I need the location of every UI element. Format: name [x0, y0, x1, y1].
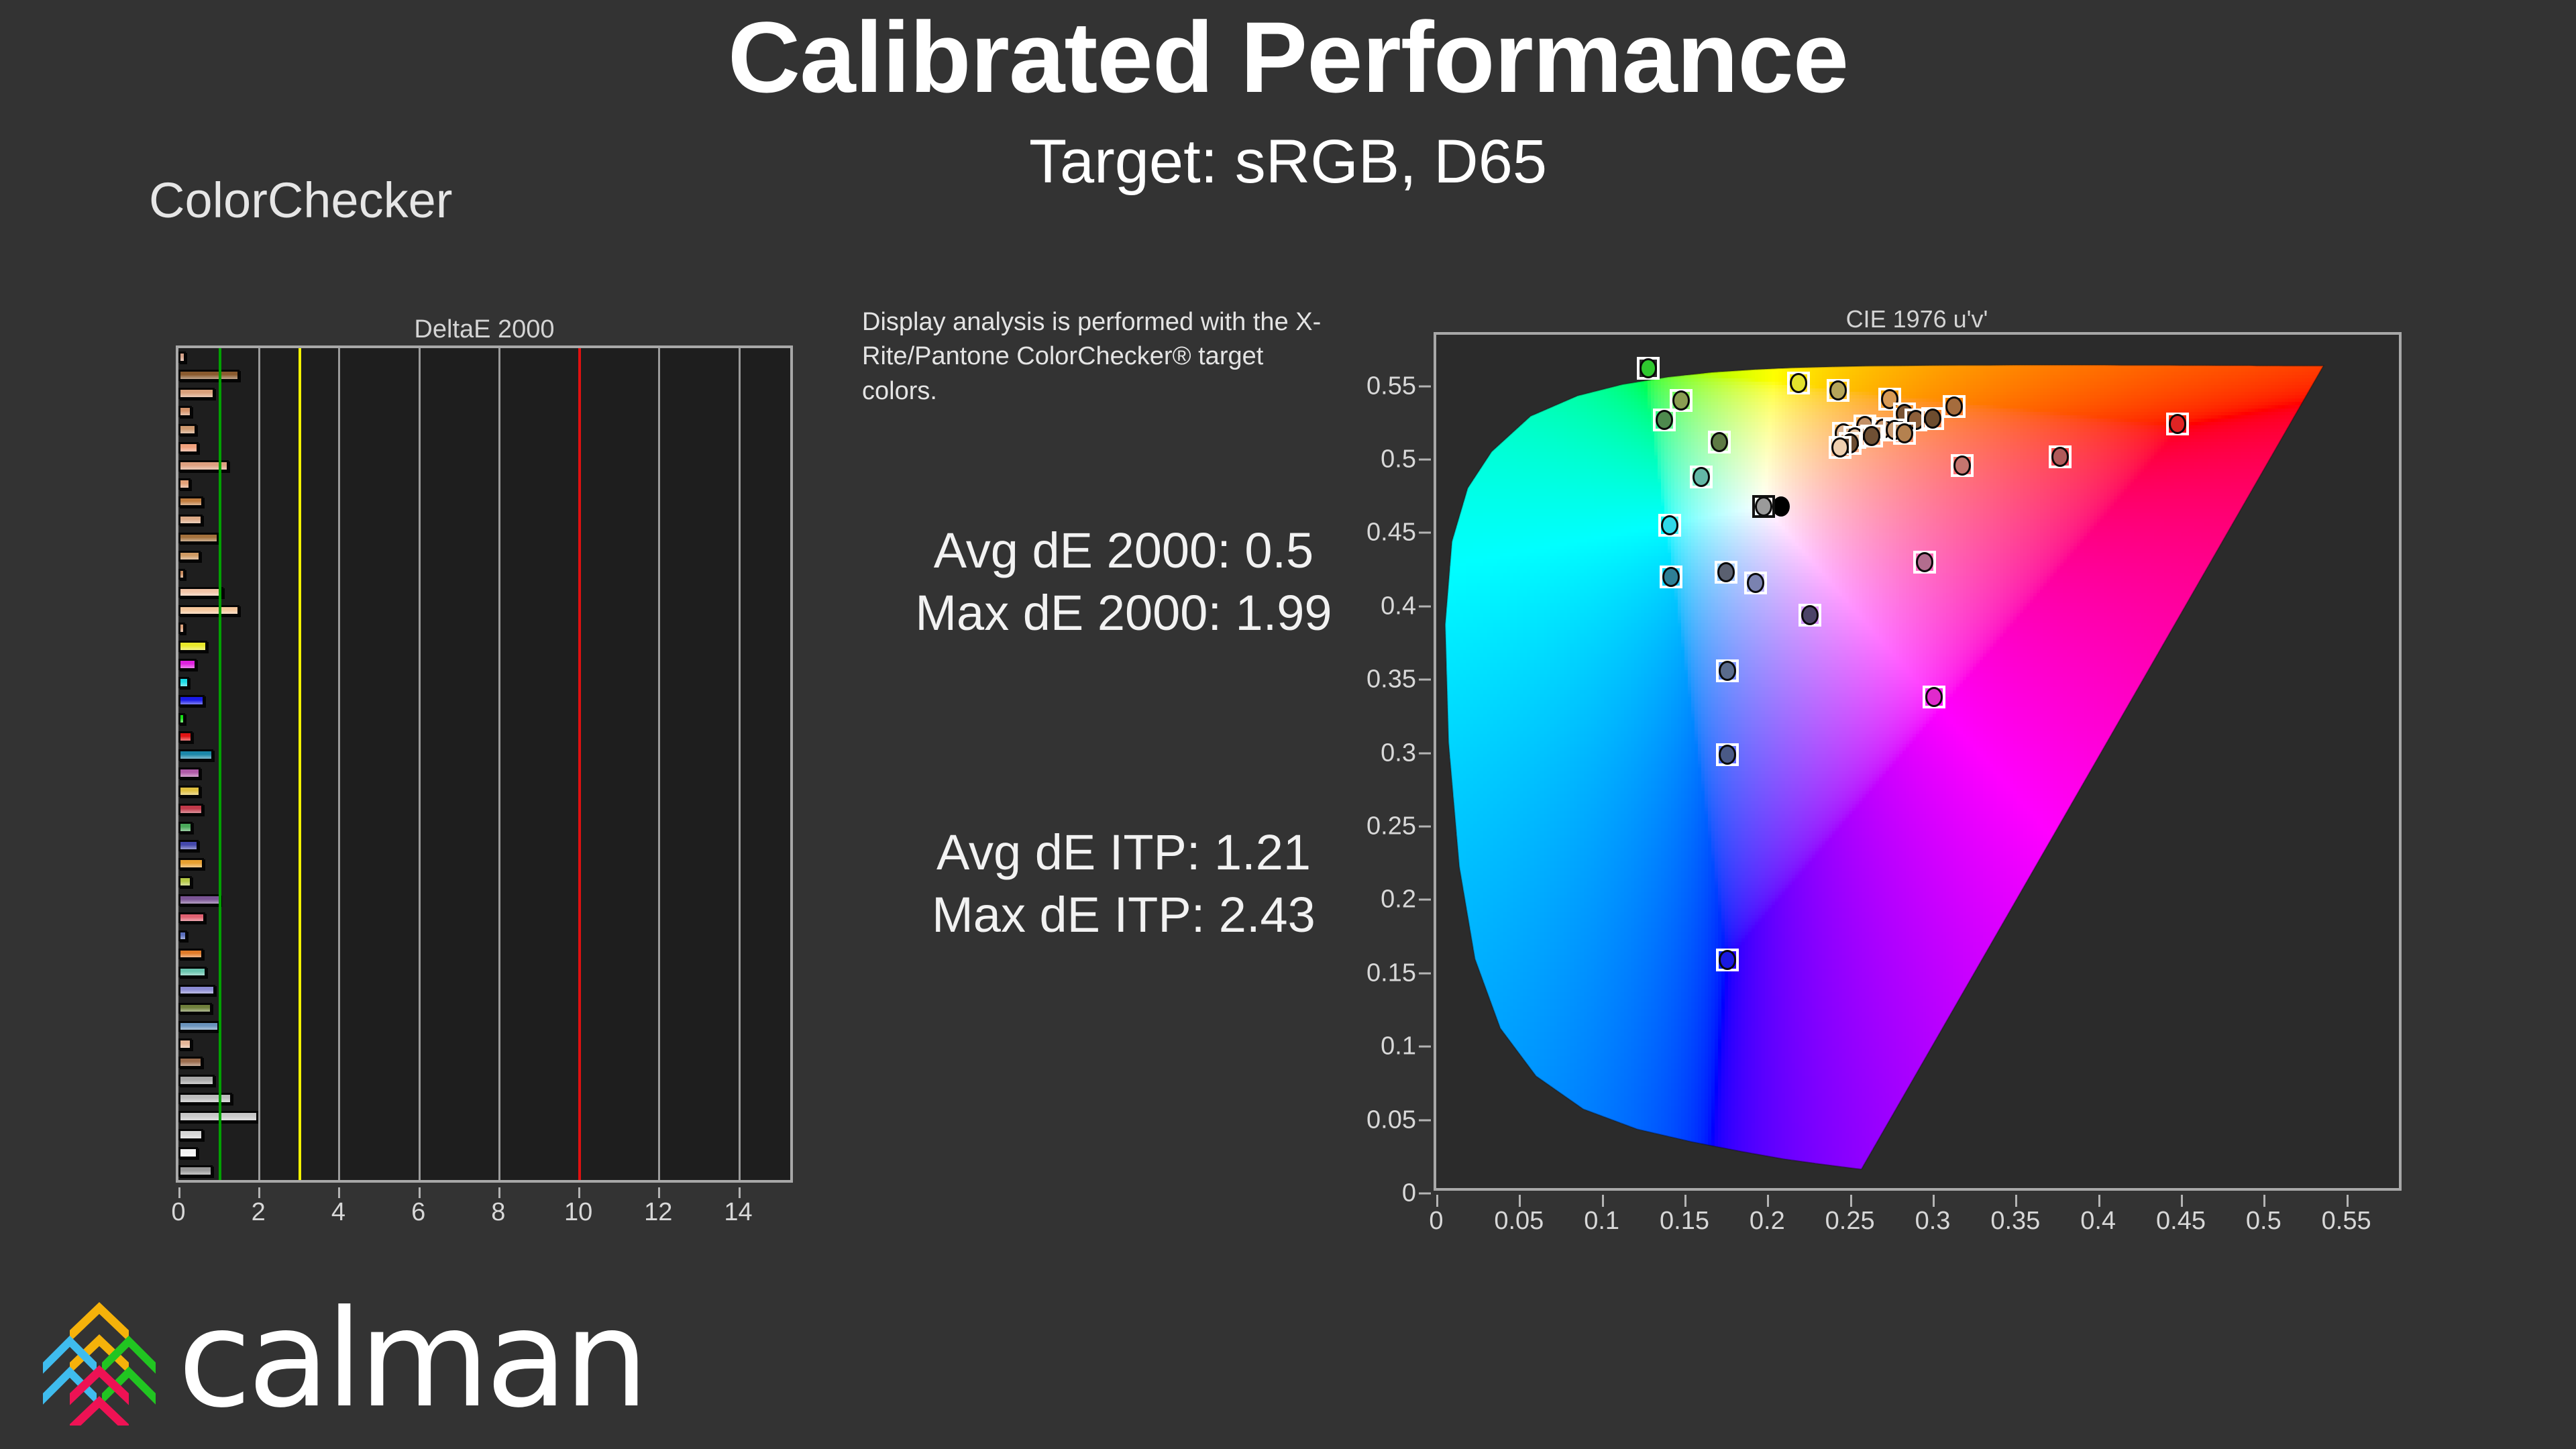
cie-ytick	[1419, 752, 1431, 754]
cie-measured-point	[1925, 687, 1943, 707]
cie-ytick-label: 0	[1402, 1179, 1416, 1208]
cie-xtick-label: 0.15	[1660, 1207, 1709, 1236]
avg-deitp-stat: Avg dE ITP: 1.21	[862, 822, 1385, 884]
deltae-bar	[178, 533, 219, 544]
cie-white-point-target	[1752, 495, 1775, 518]
cie-ytick	[1419, 825, 1431, 827]
de2000-stats-block: Avg dE 2000: 0.5 Max dE 2000: 1.99	[862, 520, 1385, 644]
cie-x-axis: 00.050.10.150.20.250.30.350.40.450.50.55	[1434, 1195, 2402, 1242]
deltae-red-threshold	[578, 348, 581, 1180]
deltae-bar	[178, 515, 203, 526]
deltae-bar	[178, 623, 185, 634]
cie-xtick-label: 0.45	[2156, 1207, 2206, 1236]
cie-xtick	[2263, 1195, 2265, 1207]
deltae-bar	[178, 949, 203, 960]
deltae-bar	[178, 731, 193, 743]
deltae-green-threshold	[219, 348, 221, 1180]
deltae-xtick	[658, 1187, 660, 1198]
deltae-bar	[178, 1003, 212, 1014]
cie-ytick	[1419, 605, 1431, 607]
deltae-bar	[178, 894, 221, 906]
cie-measured-point	[1719, 950, 1736, 970]
avg-de2000-stat: Avg dE 2000: 0.5	[862, 520, 1385, 582]
cie-measurement-points	[1436, 335, 2402, 1191]
deltae-bar	[178, 767, 201, 779]
deltae-chart-title: DeltaE 2000	[176, 315, 793, 344]
cie-measured-point	[1719, 745, 1736, 765]
cie-ytick	[1419, 679, 1431, 681]
logo-chevron-pink-bottom	[70, 1396, 129, 1426]
cie-xtick	[1519, 1195, 1521, 1207]
deltae-bar	[178, 496, 203, 508]
cie-measured-point	[2051, 447, 2069, 467]
cie-measured-point	[1640, 358, 1657, 378]
deltae-xtick	[578, 1187, 580, 1198]
cie-xtick	[1436, 1195, 1438, 1207]
cie-ytick	[1419, 1119, 1431, 1121]
cie-xtick-label: 0.2	[1750, 1207, 1785, 1236]
cie-measured-point	[1747, 573, 1764, 593]
deltae-bar	[178, 605, 239, 616]
cie-xtick	[2015, 1195, 2017, 1207]
calman-logo: calman	[40, 1298, 644, 1426]
deltae-xtick	[338, 1187, 340, 1198]
deltae-bar	[178, 442, 199, 453]
cie-measured-point	[1953, 455, 1971, 476]
deltae-xtick	[498, 1187, 500, 1198]
cie-xtick-label: 0.35	[1990, 1207, 2040, 1236]
max-deitp-stat: Max dE ITP: 2.43	[862, 884, 1385, 947]
deltae-bar	[178, 967, 207, 978]
deitp-stats-block: Avg dE ITP: 1.21 Max dE ITP: 2.43	[862, 822, 1385, 946]
deltae-bar	[178, 822, 193, 833]
cie-ytick	[1419, 1046, 1431, 1048]
deltae-bar	[178, 569, 185, 580]
deltae-bar	[178, 424, 197, 435]
deltae-gridline-14	[739, 348, 741, 1180]
cie-measured-point	[1924, 409, 1941, 429]
cie-xtick	[2098, 1195, 2100, 1207]
cie-ytick-label: 0.3	[1381, 739, 1416, 767]
cie-ytick-label: 0.25	[1366, 812, 1416, 841]
deltae-xtick-label: 8	[491, 1198, 505, 1227]
cie-measured-point	[1656, 410, 1673, 430]
deltae-xtick-label: 4	[331, 1198, 345, 1227]
deltae-xtick-label: 2	[252, 1198, 266, 1227]
page-title: Calibrated Performance	[0, 7, 2576, 107]
max-de2000-stat: Max dE 2000: 1.99	[862, 582, 1385, 645]
deltae-bar	[178, 840, 199, 851]
deltae-bar	[178, 1093, 232, 1104]
cie-xtick-label: 0	[1429, 1207, 1443, 1236]
deltae-bar	[178, 1129, 203, 1140]
deltae-bar	[178, 749, 213, 761]
deltae-xtick	[419, 1187, 421, 1198]
cie-ytick	[1419, 972, 1431, 974]
cie-xtick	[1684, 1195, 1686, 1207]
cie-xtick	[1602, 1195, 1604, 1207]
cie-ytick-label: 0.05	[1366, 1106, 1416, 1134]
colorchecker-heading: ColorChecker	[149, 172, 452, 229]
deltae-bar	[178, 370, 239, 381]
cie-ytick-label: 0.55	[1366, 372, 1416, 400]
cie-measured-point	[2169, 414, 2186, 434]
cie-chart-title: CIE 1976 u'v'	[1432, 305, 2402, 333]
deltae-gridline-2	[258, 348, 260, 1180]
cie-xtick-label: 0.55	[2322, 1207, 2371, 1236]
deltae-plot-area	[176, 345, 793, 1183]
cie-measured-point	[1662, 567, 1680, 587]
cie-measured-point	[1831, 437, 1849, 458]
deltae-bar-group	[178, 348, 790, 1180]
cie-ytick-label: 0.45	[1366, 519, 1416, 547]
deltae-xtick-label: 10	[564, 1198, 592, 1227]
deltae-bar	[178, 587, 223, 598]
deltae-xtick-label: 6	[411, 1198, 425, 1227]
cie-xtick-label: 0.1	[1584, 1207, 1619, 1236]
deltae-bar	[178, 1021, 219, 1032]
cie-xtick-label: 0.4	[2080, 1207, 2116, 1236]
deltae-bar	[178, 478, 191, 490]
cie-plot-area	[1434, 332, 2402, 1191]
deltae-x-axis: 02468101214	[176, 1187, 793, 1234]
center-info-column: Display analysis is performed with the X…	[862, 305, 1385, 409]
cie-xtick	[2181, 1195, 2183, 1207]
deltae-bar	[178, 1075, 215, 1086]
deltae-bar	[178, 388, 215, 399]
cie-measured-point	[1896, 423, 1913, 443]
cie-measured-point	[1945, 396, 1963, 417]
cie-xtick	[1767, 1195, 1769, 1207]
cie-ytick-label: 0.1	[1381, 1032, 1416, 1061]
deltae-bar	[178, 804, 203, 815]
cie-xtick-label: 0.5	[2246, 1207, 2282, 1236]
deltae-bar	[178, 1038, 192, 1050]
cie-ytick	[1419, 385, 1431, 387]
deltae-xtick	[739, 1187, 741, 1198]
deltae-gridline-6	[419, 348, 421, 1180]
cie-xtick	[1850, 1195, 1852, 1207]
cie-ytick	[1419, 458, 1431, 460]
cie-measured-point	[1661, 515, 1678, 535]
calman-wordmark: calman	[178, 1293, 645, 1427]
deltae-bar	[178, 985, 215, 996]
cie-ytick	[1419, 532, 1431, 534]
deltae-xtick-label: 12	[644, 1198, 672, 1227]
deltae-xtick-label: 0	[171, 1198, 185, 1227]
deltae-xtick	[258, 1187, 260, 1198]
deltae-xtick-label: 14	[724, 1198, 752, 1227]
cie-measured-point	[1717, 562, 1735, 582]
cie-measured-point	[1801, 605, 1819, 625]
cie-ytick-label: 0.4	[1381, 592, 1416, 621]
deltae-bar	[178, 876, 192, 888]
cie-measured-point	[1790, 373, 1807, 393]
cie-measured-point	[1863, 426, 1880, 446]
cie-xtick-label: 0.3	[1915, 1207, 1951, 1236]
cie-measured-point	[1693, 467, 1710, 487]
deltae-bar	[178, 406, 192, 417]
cie-xtick	[1933, 1195, 1935, 1207]
deltae-chart-panel: DeltaE 2000 02468101214	[176, 315, 793, 1207]
cie-xtick-label: 0.25	[1825, 1207, 1875, 1236]
cie-y-axis: 00.050.10.150.20.250.30.350.40.450.50.55	[1355, 332, 1434, 1191]
deltae-xtick	[178, 1187, 180, 1198]
deltae-bar	[178, 677, 189, 688]
cie-ytick-label: 0.15	[1366, 959, 1416, 987]
cie-chart-panel: CIE 1976 u'v' 00.050.10.150.20.250.30.35…	[1355, 305, 2402, 1238]
deltae-bar	[178, 1165, 213, 1177]
deltae-yellow-threshold	[299, 348, 301, 1180]
cie-ytick	[1419, 1193, 1431, 1195]
cie-ytick-label: 0.5	[1381, 445, 1416, 474]
cie-ytick	[1419, 899, 1431, 901]
analysis-disclaimer: Display analysis is performed with the X…	[862, 305, 1332, 409]
deltae-bar	[178, 912, 205, 924]
cie-measured-point	[1916, 552, 1933, 572]
deltae-bar	[178, 695, 205, 706]
cie-measured-point	[1711, 432, 1728, 452]
deltae-bar	[178, 659, 197, 670]
cie-measured-point	[1829, 380, 1847, 400]
cie-ytick-label: 0.35	[1366, 665, 1416, 694]
deltae-bar	[178, 930, 187, 942]
cie-xtick-label: 0.05	[1494, 1207, 1544, 1236]
calman-diamond-icon	[40, 1298, 161, 1426]
deltae-bar	[178, 1147, 198, 1159]
deltae-bar	[178, 858, 204, 869]
deltae-bar	[178, 352, 186, 363]
deltae-gridline-4	[338, 348, 340, 1180]
cie-measured-point	[1719, 661, 1736, 681]
deltae-bar	[178, 641, 207, 652]
cie-xtick	[2347, 1195, 2349, 1207]
deltae-bar	[178, 786, 201, 797]
deltae-gridline-12	[658, 348, 660, 1180]
deltae-bar	[178, 551, 201, 562]
deltae-gridline-8	[498, 348, 500, 1180]
deltae-bar	[178, 1057, 203, 1068]
cie-ytick-label: 0.2	[1381, 885, 1416, 914]
deltae-bar	[178, 713, 185, 724]
